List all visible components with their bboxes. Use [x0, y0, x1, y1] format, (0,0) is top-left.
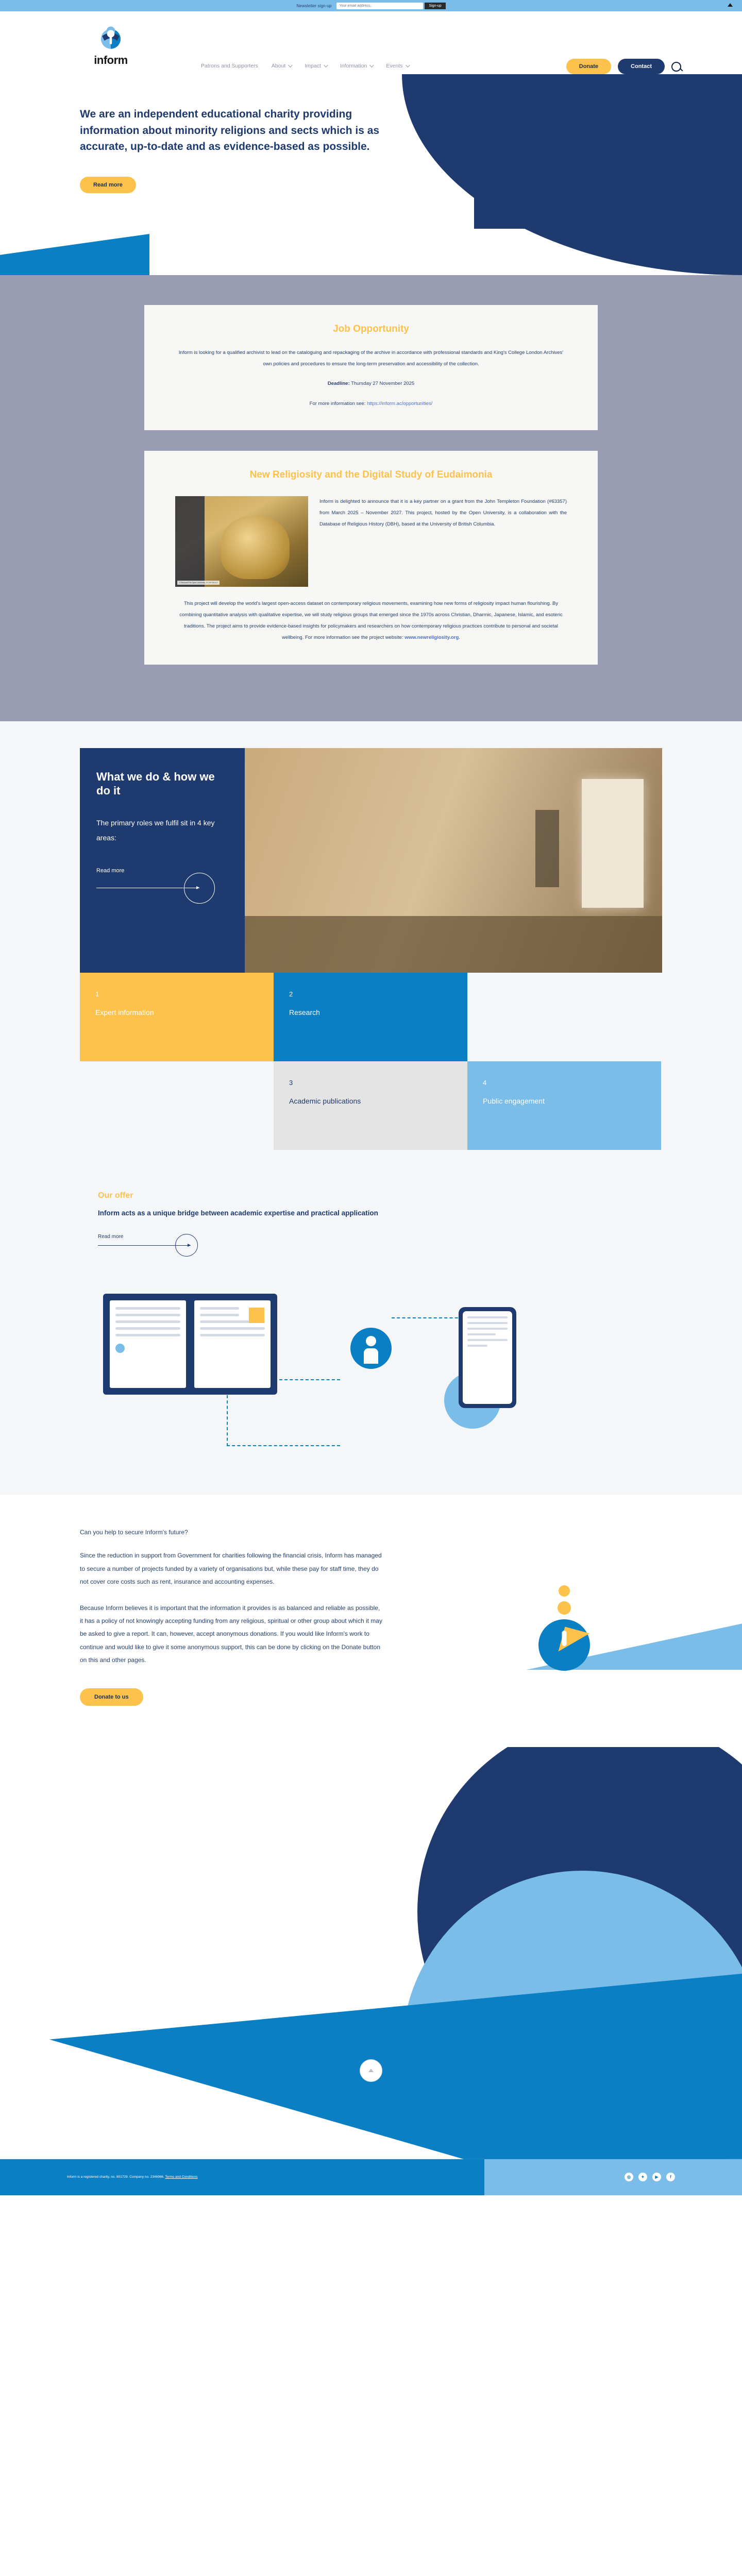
- project-paragraph-1: Inform is delighted to announce that it …: [319, 496, 567, 531]
- sunlit-interior-photo: [245, 748, 662, 973]
- newsletter-bar: Newsletter sign-up Sign-up: [0, 0, 742, 11]
- book-yellow-square: [249, 1308, 264, 1323]
- tile-label: Expert information: [95, 1005, 258, 1020]
- hero-section: We are an independent educational charit…: [0, 74, 742, 275]
- hero-heading: We are an independent educational charit…: [80, 106, 410, 155]
- nav-label: Events: [386, 63, 402, 69]
- phone-screen: [463, 1311, 512, 1404]
- nav-label: Information: [340, 63, 367, 69]
- logo[interactable]: inform: [80, 22, 142, 67]
- tile-public-engagement[interactable]: 4 Public engagement: [467, 1061, 661, 1150]
- nav-item-information[interactable]: Information: [340, 63, 373, 69]
- secure-heading: Can you help to secure Inform's future?: [80, 1529, 384, 1536]
- footer-legal-text: Inform is a registered charity, no. 8017…: [67, 2175, 197, 2179]
- photo-window: [582, 779, 644, 908]
- scroll-to-top-icon[interactable]: [360, 2059, 382, 2082]
- offer-eyebrow: Our offer: [98, 1191, 644, 1200]
- nav-item-patrons[interactable]: Patrons and Supporters: [201, 63, 258, 69]
- tile-label: Research: [289, 1005, 452, 1020]
- nav-item-about[interactable]: About: [272, 63, 291, 69]
- header-actions: Donate Contact: [566, 59, 681, 74]
- text-line: [200, 1334, 265, 1336]
- tile-research[interactable]: 2 Research: [274, 973, 467, 1061]
- chevron-down-icon: [370, 63, 374, 67]
- inform-person-logo-icon: [96, 22, 125, 50]
- deadline-label: Deadline:: [328, 381, 350, 386]
- facebook-icon[interactable]: f: [666, 2173, 675, 2181]
- coin-donation-jar-illustration: [538, 1585, 590, 1671]
- tile-number: 2: [289, 990, 452, 998]
- chevron-down-icon: [324, 63, 328, 67]
- footer-social-links: ◎ ✦ ▶ f: [625, 2173, 675, 2181]
- secure-future-content: Can you help to secure Inform's future? …: [80, 1529, 662, 1706]
- more-info-label: For more information see:: [310, 401, 367, 406]
- tiles-row-1: 1 Expert information 2 Research: [80, 973, 662, 1061]
- instagram-icon[interactable]: ◎: [625, 2173, 633, 2181]
- person-body: [364, 1348, 378, 1364]
- donate-to-us-button[interactable]: Donate to us: [80, 1688, 143, 1706]
- text-line: [115, 1320, 180, 1323]
- tile-spacer: [467, 973, 661, 1061]
- tile-spacer: [80, 1061, 274, 1150]
- tile-expert-information[interactable]: 1 Expert information: [80, 973, 274, 1061]
- text-line: [467, 1333, 496, 1335]
- tile-number: 4: [483, 1079, 646, 1087]
- book-person-phone-illustration: [98, 1266, 644, 1467]
- job-card-title: Job Opportunity: [175, 323, 567, 336]
- person-avatar-icon: [350, 1328, 392, 1369]
- what-we-do-row: What we do & how we do it The primary ro…: [80, 748, 662, 973]
- logo-wordmark: inform: [80, 54, 142, 67]
- nav-label: About: [272, 63, 285, 69]
- job-card-more: For more information see: https://inform…: [175, 398, 567, 410]
- hero-navy-curve: [402, 74, 742, 275]
- newsletter-email-input[interactable]: [336, 3, 423, 9]
- tile-number: 3: [289, 1079, 452, 1087]
- arrow-right-icon: [98, 1245, 191, 1246]
- offer-headline: Inform acts as a unique bridge between a…: [98, 1208, 644, 1219]
- site-footer: Inform is a registered charity, no. 8017…: [0, 2159, 742, 2195]
- text-line: [200, 1314, 239, 1316]
- key-areas-tiles: 1 Expert information 2 Research 3 Academ…: [0, 973, 742, 1171]
- text-line: [115, 1334, 180, 1336]
- photo-floor: [245, 916, 662, 973]
- news-band: Job Opportunity Inform is looking for a …: [0, 275, 742, 721]
- read-more-label: Read more: [96, 868, 124, 874]
- book-page-right: [194, 1300, 271, 1388]
- youtube-icon[interactable]: ▶: [652, 2173, 661, 2181]
- tile-label: Academic publications: [289, 1094, 452, 1109]
- main-navigation: Patrons and Supporters About Impact Info…: [201, 63, 409, 69]
- contact-button[interactable]: Contact: [618, 59, 665, 74]
- new-religiosity-card: New Religiosity and the Digital Study of…: [144, 451, 598, 665]
- chevron-down-icon: [406, 63, 410, 67]
- mobile-phone-icon: [459, 1307, 516, 1408]
- project-para2-end: .: [459, 635, 460, 640]
- tile-label: Public engagement: [483, 1094, 646, 1109]
- project-card-title: New Religiosity and the Digital Study of…: [175, 468, 567, 482]
- secure-paragraph-1: Since the reduction in support from Gove…: [80, 1549, 384, 1588]
- newsletter-signup-button[interactable]: Sign-up: [425, 3, 445, 9]
- photo-caption: © Bruiszel/The Open University, CC BY-SA…: [177, 581, 220, 585]
- page-root: Newsletter sign-up Sign-up inform Patron…: [0, 0, 742, 2195]
- terms-and-conditions-link[interactable]: Terms and Conditions: [165, 2175, 198, 2179]
- job-card-body: Inform is looking for a qualified archiv…: [175, 347, 567, 370]
- text-line: [467, 1316, 508, 1318]
- hero-blue-wedge: [0, 234, 149, 275]
- text-line: [200, 1307, 239, 1310]
- read-more-circle: [184, 873, 215, 904]
- what-we-do-intro: The primary roles we fulfil sit in 4 key…: [96, 816, 228, 846]
- job-card-deadline: Deadline: Thursday 27 November 2025: [175, 378, 567, 389]
- text-line: [115, 1314, 180, 1316]
- project-paragraph-2: This project will develop the world's la…: [175, 598, 567, 644]
- secure-paragraph-2: Because Inform believes it is important …: [80, 1602, 384, 1667]
- open-book-icon: [103, 1294, 277, 1395]
- tile-academic-publications[interactable]: 3 Academic publications: [274, 1061, 467, 1150]
- book-dot: [115, 1344, 125, 1353]
- what-we-do-title: What we do & how we do it: [96, 770, 228, 798]
- job-opportunity-card: Job Opportunity Inform is looking for a …: [144, 305, 598, 430]
- tiles-grid: 1 Expert information 2 Research 3 Academ…: [80, 973, 662, 1150]
- footer-copy: Inform is a registered charity, no. 8017…: [67, 2175, 165, 2179]
- text-line: [467, 1345, 487, 1347]
- text-line: [115, 1327, 180, 1330]
- text-line: [467, 1322, 508, 1324]
- chevron-down-icon: [289, 63, 293, 67]
- nav-item-impact[interactable]: Impact: [305, 63, 327, 69]
- secure-future-section: Can you help to secure Inform's future? …: [0, 1495, 742, 1747]
- what-we-do-read-more[interactable]: Read more: [96, 868, 228, 896]
- pot-slot: [562, 1631, 567, 1646]
- opportunities-link[interactable]: https://inform.ac/opportunities/: [367, 401, 432, 406]
- newsletter-label: Newsletter sign-up: [296, 4, 331, 8]
- footer-content: Inform is a registered charity, no. 8017…: [67, 2159, 675, 2195]
- donation-pot-icon: [538, 1619, 590, 1671]
- text-line: [200, 1327, 265, 1330]
- nav-item-events[interactable]: Events: [386, 63, 408, 69]
- bottom-decoration-section: [0, 1747, 742, 2159]
- project-para2-text: This project will develop the world's la…: [179, 601, 562, 641]
- offer-read-more[interactable]: Read more: [98, 1234, 222, 1258]
- coin-icon: [559, 1585, 570, 1597]
- photo-dark-area: [175, 496, 205, 587]
- text-line: [467, 1339, 508, 1341]
- photo-gold-statue: [221, 516, 290, 579]
- what-we-do-section: What we do & how we do it The primary ro…: [0, 721, 742, 973]
- our-offer-section: Our offer Inform acts as a unique bridge…: [0, 1171, 742, 1495]
- text-line: [115, 1307, 180, 1310]
- nav-label: Patrons and Supporters: [201, 63, 258, 69]
- hero-read-more-button[interactable]: Read more: [80, 177, 136, 193]
- triangle-up-icon[interactable]: [728, 3, 733, 7]
- site-header: inform Patrons and Supporters About Impa…: [0, 11, 742, 74]
- what-we-do-panel: What we do & how we do it The primary ro…: [80, 748, 245, 973]
- text-line: [467, 1328, 508, 1330]
- hero-content: We are an independent educational charit…: [80, 106, 410, 193]
- donate-button[interactable]: Donate: [566, 59, 611, 74]
- read-more-label: Read more: [98, 1234, 123, 1240]
- deadline-value: Thursday 27 November 2025: [350, 381, 415, 386]
- search-icon[interactable]: [671, 62, 681, 72]
- arrow-up-glyph: [368, 2069, 374, 2072]
- secure-text-column: Can you help to secure Inform's future? …: [80, 1529, 384, 1706]
- nav-label: Impact: [305, 63, 321, 69]
- coin-icon: [558, 1601, 571, 1615]
- tiles-row-2: 3 Academic publications 4 Public engagem…: [80, 1061, 662, 1150]
- photo-shadow: [535, 810, 559, 887]
- tile-number: 1: [95, 990, 258, 998]
- project-media-row: © Bruiszel/The Open University, CC BY-SA…: [175, 496, 567, 587]
- golden-temple-guardian-photo: © Bruiszel/The Open University, CC BY-SA…: [175, 496, 308, 587]
- our-offer-content: Our offer Inform acts as a unique bridge…: [98, 1191, 644, 1467]
- book-page-left: [110, 1300, 186, 1388]
- arrow-right-icon: [96, 888, 199, 888]
- twitter-icon[interactable]: ✦: [638, 2173, 647, 2181]
- person-head: [366, 1336, 376, 1346]
- newreligiosity-link[interactable]: www.newreligiosity.org: [404, 635, 459, 640]
